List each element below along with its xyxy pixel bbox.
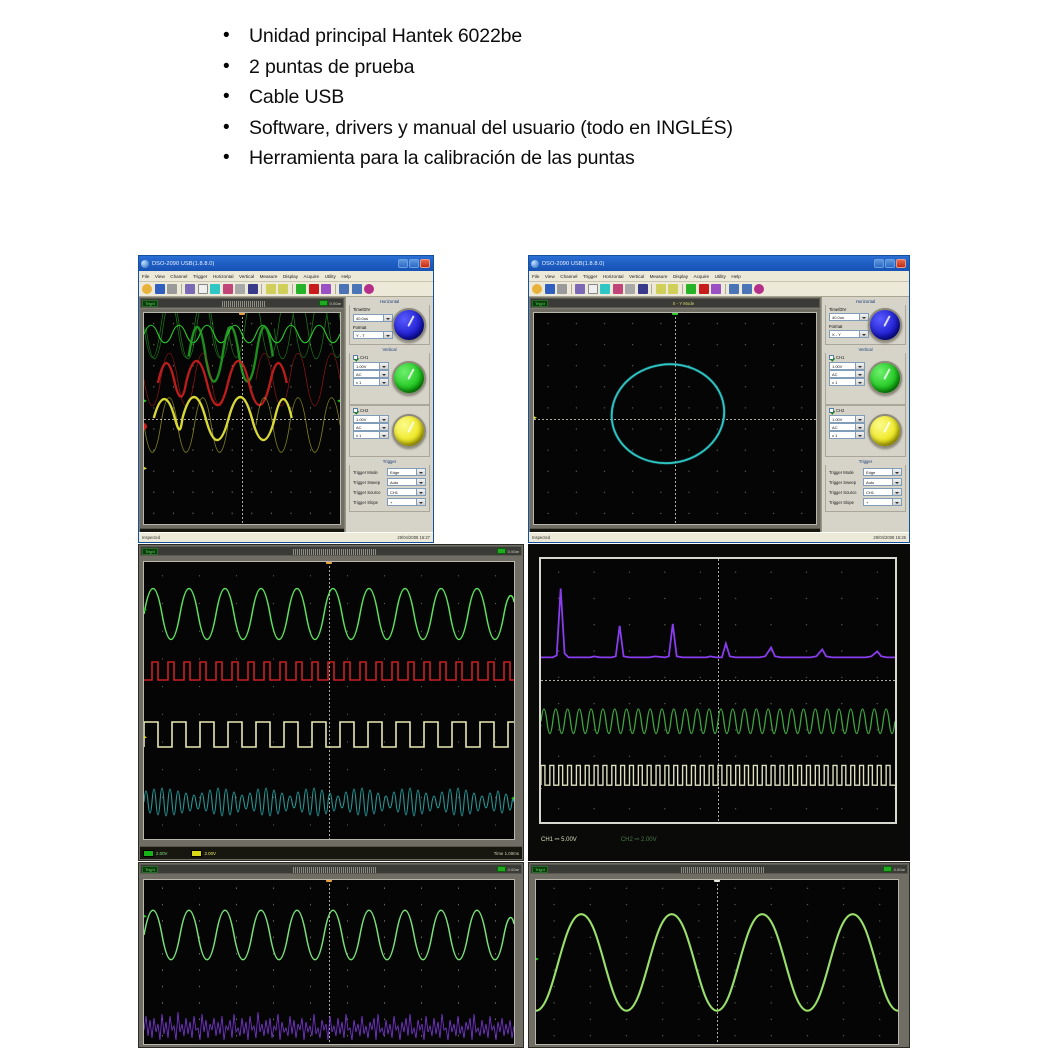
checkbox-icon xyxy=(353,408,358,413)
overview-strip[interactable]: Trig'd 0.00ar xyxy=(140,298,344,308)
trigger-group: Trigger Trigger Mode Edge Trigger Sweep xyxy=(349,459,430,512)
time-div-value: 40.0us xyxy=(356,316,368,321)
ch1-enable-checkbox[interactable]: CH1 xyxy=(353,355,426,360)
scope-panel-6[interactable]: Trig'd 0.00ar xyxy=(528,862,910,1048)
ch1-volts-div-value: 1.00V xyxy=(356,364,366,369)
trigger-position-marker[interactable] xyxy=(239,312,245,315)
window-tile-icon[interactable] xyxy=(339,284,349,294)
menu-channel[interactable]: Channel xyxy=(170,274,187,279)
toolbar-separator xyxy=(651,284,652,294)
waveform-traces xyxy=(144,880,514,1045)
chevron-down-icon xyxy=(895,492,899,494)
menu-measure[interactable]: Measure xyxy=(260,274,278,279)
window-title: DSO-2090 USB(1.8.8.0) xyxy=(542,261,871,267)
bullet-glyph: • xyxy=(215,146,249,170)
vertical-group-title: Vertical xyxy=(825,347,906,352)
maximize-button[interactable] xyxy=(409,259,419,268)
ch1-coupling-select[interactable]: AC xyxy=(829,370,865,378)
trigger-status-badge: Trig'd xyxy=(142,866,158,873)
chevron-down-icon xyxy=(858,427,862,429)
run-indicator xyxy=(497,866,506,872)
ch1-volts-value: 2.00V xyxy=(156,851,167,856)
trigger-slope-label: Trigger Slope xyxy=(829,500,863,505)
menu-horizontal[interactable]: Horizontal xyxy=(603,274,624,279)
stop-icon[interactable] xyxy=(309,284,319,294)
trigger-mode-field[interactable]: Trigger Mode Edge xyxy=(353,468,426,476)
trigger-mode-field[interactable]: Trigger Mode Edge xyxy=(829,468,902,476)
chevron-down-icon xyxy=(858,374,862,376)
chevron-down-icon xyxy=(382,366,386,368)
trigger-mode-label: Trigger Mode xyxy=(353,470,387,475)
marker2-icon[interactable] xyxy=(668,284,678,294)
chevron-down-icon xyxy=(382,419,386,421)
trigger-source-value: CH1 xyxy=(390,490,398,495)
time-div-select[interactable]: 40.0us xyxy=(353,314,393,322)
stop-icon[interactable] xyxy=(699,284,709,294)
vertical-group-title: Vertical xyxy=(349,347,430,352)
ch2-label: CH2 xyxy=(360,408,368,413)
ch1-position-knob[interactable] xyxy=(868,361,902,395)
scope-panel-3[interactable]: Trig'd 0.00ar xyxy=(138,544,524,861)
toolbar[interactable] xyxy=(529,282,909,297)
print-icon[interactable] xyxy=(167,284,177,294)
product-contents-list: • Unidad principal Hantek 6022be • 2 pun… xyxy=(215,24,935,177)
run-icon[interactable] xyxy=(296,284,306,294)
minimize-button[interactable] xyxy=(398,259,408,268)
chevron-down-icon xyxy=(862,334,866,336)
waveform-graticule[interactable] xyxy=(143,312,341,525)
list-item-label: Software, drivers y manual del usuario (… xyxy=(249,116,733,140)
toolbar-separator xyxy=(571,284,572,294)
time-div-value: 40.0us xyxy=(832,315,844,320)
menu-view[interactable]: View xyxy=(545,274,555,279)
control-panel[interactable]: Horizontal Time/DIV 40.0us Format X - Y xyxy=(821,297,909,542)
vertical-group: Vertical CH1 1.00V AC xyxy=(349,347,430,457)
toolbar-separator xyxy=(335,284,336,294)
maximize-button[interactable] xyxy=(885,259,895,268)
menu-display[interactable]: Display xyxy=(283,274,298,279)
list-item-label: Herramienta para la calibración de las p… xyxy=(249,146,635,170)
ch1-volts-div-value: 1.00V xyxy=(832,364,842,369)
trigger-position-marker[interactable] xyxy=(326,561,332,564)
window-controls[interactable] xyxy=(874,259,906,268)
overview-strip[interactable]: Trig'd 0.00ar xyxy=(140,864,522,874)
autoset-icon[interactable] xyxy=(321,284,331,294)
list-item: • Cable USB xyxy=(215,85,935,109)
scope-body: Trig'd 0.00ar xyxy=(139,297,433,542)
overview-waveform xyxy=(293,549,377,555)
trigger-status-badge: Trig'd xyxy=(142,300,158,307)
chevron-down-icon xyxy=(419,502,423,504)
marker1-icon[interactable] xyxy=(266,284,276,294)
vertical-group: Vertical CH1 1.00V AC xyxy=(825,347,906,457)
trigger-slope-select[interactable]: + xyxy=(863,498,902,506)
save-icon[interactable] xyxy=(155,284,165,294)
ch1-probe-select[interactable]: x 1 xyxy=(353,378,389,386)
bullet-glyph: • xyxy=(215,55,249,79)
time-div-field[interactable]: Time/DIV xyxy=(353,307,397,312)
list-item: • Software, drivers y manual del usuario… xyxy=(215,116,935,140)
timebase-readout: Time 1.00ms xyxy=(494,851,519,856)
trigger-position-marker[interactable] xyxy=(326,879,332,882)
trigger-sweep-field[interactable]: Trigger Sweep Auto xyxy=(353,478,426,486)
window-statusbar: Inspected 29/04/2008 15:27 xyxy=(139,532,433,542)
waveform-graticule[interactable] xyxy=(143,561,515,840)
menu-view[interactable]: View xyxy=(155,274,165,279)
chevron-down-icon xyxy=(895,482,899,484)
ch2-position-marker[interactable] xyxy=(143,465,147,472)
measure-icon[interactable] xyxy=(613,284,623,294)
ch1-readout-text: CH1 ⎓ 5.00V xyxy=(541,837,577,844)
chevron-down-icon xyxy=(386,318,390,320)
list-item: • Unidad principal Hantek 6022be xyxy=(215,24,935,48)
ch1-volts-div-select[interactable]: 1.00V xyxy=(829,362,865,370)
menu-trigger[interactable]: Trigger xyxy=(583,274,597,279)
time-div-select[interactable]: 40.0us xyxy=(829,313,869,321)
trigger-source-label: Trigger Source xyxy=(829,490,863,495)
chevron-down-icon xyxy=(858,419,862,421)
open-icon[interactable] xyxy=(532,284,542,294)
trigger-source-value: CH1 xyxy=(866,490,874,495)
print-icon[interactable] xyxy=(557,284,567,294)
checkbox-icon xyxy=(829,408,834,413)
chevron-down-icon xyxy=(895,502,899,504)
zoom-icon[interactable] xyxy=(235,284,245,294)
menu-measure[interactable]: Measure xyxy=(650,274,668,279)
toolbar-separator xyxy=(261,284,262,294)
menu-acquire[interactable]: Acquire xyxy=(694,274,710,279)
overview-position-label: 0.00ar xyxy=(894,867,905,872)
trigger-group-title: Trigger xyxy=(349,459,430,464)
menu-acquire[interactable]: Acquire xyxy=(304,274,320,279)
waveform-traces xyxy=(144,313,340,453)
run-indicator xyxy=(319,300,328,306)
page-root: • Unidad principal Hantek 6022be • 2 pun… xyxy=(0,0,1048,1048)
run-indicator xyxy=(883,866,892,872)
xy-graticule[interactable] xyxy=(533,312,817,525)
menu-utility[interactable]: Utility xyxy=(715,274,726,279)
capture-icon[interactable] xyxy=(248,284,258,294)
overview-waveform xyxy=(681,867,764,873)
menu-vertical[interactable]: Vertical xyxy=(629,274,644,279)
bullet-glyph: • xyxy=(215,85,249,109)
format-value: Y - T xyxy=(356,333,365,338)
trigger-slope-field[interactable]: Trigger Slope + xyxy=(829,498,902,506)
ch1-probe-value: x 1 xyxy=(356,380,361,385)
capture-icon[interactable] xyxy=(638,284,648,294)
ch2-readout-text: CH2 ⎓ 2.00V xyxy=(621,837,657,844)
statusbar-datetime: 29/04/2008 15:26 xyxy=(873,535,906,540)
menu-trigger[interactable]: Trigger xyxy=(193,274,207,279)
scope-panel-5[interactable]: Trig'd 0.00ar xyxy=(138,862,524,1048)
xy-mode-label: X - Y Mode xyxy=(548,301,819,306)
ch1-coupling-value: AC xyxy=(356,372,362,377)
ch2-volts-div-select[interactable]: 1.00V xyxy=(829,415,865,423)
overview-waveform xyxy=(293,867,377,873)
trigger-slope-select[interactable]: + xyxy=(387,498,426,506)
waveform-traces xyxy=(144,562,514,840)
trigger-source-field[interactable]: Trigger Source CH1 xyxy=(829,488,902,496)
fft-graticule[interactable] xyxy=(539,557,897,824)
color-icon[interactable] xyxy=(364,284,374,294)
scope-body: Trig'd X - Y Mode xyxy=(529,297,909,542)
trigger-source-select[interactable]: CH1 xyxy=(387,488,426,496)
overview-position-label: 0.00ar xyxy=(508,867,519,872)
window-statusbar: Inspected 29/04/2008 15:26 xyxy=(529,532,909,542)
scope-status-readout: 2.00V 2.00V Time 1.00ms xyxy=(140,846,522,859)
trigger-sweep-field[interactable]: Trigger Sweep Auto xyxy=(829,478,902,486)
ch2-enable-checkbox[interactable]: CH2 xyxy=(829,408,902,413)
minimize-button[interactable] xyxy=(874,259,884,268)
ch1-position-knob[interactable] xyxy=(392,361,426,395)
overview-position-label: 0.00ar xyxy=(330,301,341,306)
ch2-volts-div-value: 1.00V xyxy=(832,417,842,422)
run-indicator xyxy=(497,548,506,554)
overview-waveform xyxy=(222,301,266,307)
menu-utility[interactable]: Utility xyxy=(325,274,336,279)
format-select[interactable]: Y - T xyxy=(353,331,393,339)
marker1-icon[interactable] xyxy=(656,284,666,294)
format-value: X - Y xyxy=(832,332,841,337)
app-logo-icon xyxy=(141,260,149,268)
bullet-glyph: • xyxy=(215,116,249,140)
ch2-probe-value: x 1 xyxy=(832,433,837,438)
toolbar-separator xyxy=(682,284,683,294)
statusbar-left-text: Inspected xyxy=(142,535,160,540)
chevron-down-icon xyxy=(382,382,386,384)
trigger-sweep-select[interactable]: Auto xyxy=(863,478,902,486)
toolbar-separator xyxy=(292,284,293,294)
horizontal-position-knob[interactable] xyxy=(392,308,426,342)
ch1-enable-checkbox[interactable]: CH1 xyxy=(829,355,902,360)
trigger-slope-value: + xyxy=(390,500,392,505)
ch2-probe-select[interactable]: x 1 xyxy=(829,431,865,439)
channel-readouts: CH1 ⎓ 5.00V CH2 ⎓ 2.00V xyxy=(541,837,657,844)
titlebar[interactable]: DSO-2090 USB(1.8.8.0) xyxy=(139,256,433,271)
open-icon[interactable] xyxy=(142,284,152,294)
ch2-position-knob[interactable] xyxy=(868,414,902,448)
refresh-icon[interactable] xyxy=(210,284,220,294)
menu-file[interactable]: File xyxy=(532,274,539,279)
ch1-color-swatch xyxy=(143,850,154,857)
cursor-icon[interactable] xyxy=(575,284,585,294)
overview-strip[interactable]: Trig'd 0.00ar xyxy=(140,546,522,556)
horizontal-group: Horizontal Time/DIV 40.0us Format X - Y xyxy=(825,299,906,345)
ch2-probe-select[interactable]: x 1 xyxy=(353,431,389,439)
ch1-coupling-value: AC xyxy=(832,372,838,377)
trigger-sweep-select[interactable]: Auto xyxy=(387,478,426,486)
autoset-icon[interactable] xyxy=(711,284,721,294)
overview-strip[interactable]: Trig'd 0.00ar xyxy=(530,864,908,874)
ch2-coupling-select[interactable]: AC xyxy=(353,423,389,431)
format-select[interactable]: X - Y xyxy=(829,330,869,338)
toolbar-separator xyxy=(181,284,182,294)
chevron-down-icon xyxy=(858,435,862,437)
overview-strip[interactable]: Trig'd X - Y Mode xyxy=(530,298,820,308)
chevron-down-icon xyxy=(382,427,386,429)
trigger-mode-value: Edge xyxy=(866,470,875,475)
waveform-traces xyxy=(536,880,898,1045)
trigger-slope-value: + xyxy=(866,500,868,505)
checkbox-icon xyxy=(353,355,358,360)
chevron-down-icon xyxy=(862,317,866,319)
list-item: • Herramienta para la calibración de las… xyxy=(215,146,935,170)
menu-horizontal[interactable]: Horizontal xyxy=(213,274,234,279)
overview-right: 0.00ar xyxy=(883,866,905,872)
timebase-value: 1.00ms xyxy=(505,851,519,856)
pointer-icon[interactable] xyxy=(198,284,208,294)
ch2-volts-value: 2.00V xyxy=(204,851,215,856)
window-title: DSO-2090 USB(1.8.8.0) xyxy=(152,261,395,267)
statusbar-datetime: 29/04/2008 15:27 xyxy=(397,535,430,540)
list-item-label: Cable USB xyxy=(249,85,344,109)
trigger-position-marker[interactable] xyxy=(714,879,720,882)
chevron-down-icon xyxy=(419,482,423,484)
waveform-graticule[interactable] xyxy=(535,879,899,1045)
ch2-coupling-value: AC xyxy=(356,425,362,430)
window-controls[interactable] xyxy=(398,259,430,268)
ch1-label: CH1 xyxy=(836,355,844,360)
chevron-down-icon xyxy=(419,492,423,494)
scope-display-area: Trig'd 0.00ar xyxy=(139,297,345,542)
horizontal-position-knob[interactable] xyxy=(868,308,902,342)
trigger-sweep-label: Trigger Sweep xyxy=(353,480,387,485)
ch2-coupling-select[interactable]: AC xyxy=(829,423,865,431)
timebase-label: Time xyxy=(494,851,504,856)
trigger-slope-label: Trigger Slope xyxy=(353,500,387,505)
overview-right: 0.00ar xyxy=(497,548,519,554)
trigger-status-badge: Trig'd xyxy=(532,866,548,873)
window-tile-icon[interactable] xyxy=(729,284,739,294)
list-item-label: Unidad principal Hantek 6022be xyxy=(249,24,522,48)
oscilloscope-screenshot-collage: DSO-2090 USB(1.8.8.0) File View Channel … xyxy=(138,255,910,1048)
cursor-icon[interactable] xyxy=(185,284,195,294)
trigger-sweep-value: Auto xyxy=(390,480,398,485)
zoom-icon[interactable] xyxy=(625,284,635,294)
menubar[interactable]: File View Channel Trigger Horizontal Ver… xyxy=(139,271,433,282)
ch1-volts-div-select[interactable]: 1.00V xyxy=(353,362,389,370)
checkbox-icon xyxy=(829,355,834,360)
trigger-position-marker[interactable] xyxy=(672,312,678,315)
refresh-icon[interactable] xyxy=(600,284,610,294)
bullet-glyph: • xyxy=(215,24,249,48)
close-button[interactable] xyxy=(896,259,906,268)
trigger-mode-select[interactable]: Edge xyxy=(387,468,426,476)
window-cascade-icon[interactable] xyxy=(352,284,362,294)
trigger-group-title: Trigger xyxy=(825,459,906,464)
toolbar[interactable] xyxy=(139,282,433,297)
ch1-label: CH1 xyxy=(360,355,368,360)
scope-display-area: Trig'd X - Y Mode xyxy=(529,297,821,542)
control-panel[interactable]: Horizontal Time/DIV 40.0us Format xyxy=(345,297,433,542)
chevron-down-icon xyxy=(382,374,386,376)
menu-channel[interactable]: Channel xyxy=(560,274,577,279)
ch2-enable-checkbox[interactable]: CH2 xyxy=(353,408,426,413)
titlebar[interactable]: DSO-2090 USB(1.8.8.0) xyxy=(529,256,909,271)
close-button[interactable] xyxy=(420,259,430,268)
menubar[interactable]: File View Channel Trigger Horizontal Ver… xyxy=(529,271,909,282)
list-item-label: 2 puntas de prueba xyxy=(249,55,414,79)
list-item: • 2 puntas de prueba xyxy=(215,55,935,79)
scope-window-2[interactable]: DSO-2090 USB(1.8.8.0) File View Channel … xyxy=(528,255,910,543)
chevron-down-icon xyxy=(419,472,423,474)
trigger-slope-field[interactable]: Trigger Slope + xyxy=(353,498,426,506)
color-icon[interactable] xyxy=(754,284,764,294)
horizontal-group: Horizontal Time/DIV 40.0us Format xyxy=(349,299,430,345)
trigger-source-label: Trigger Source xyxy=(353,490,387,495)
horizontal-group-title: Horizontal xyxy=(349,299,430,304)
fft-and-waveform-traces xyxy=(541,559,895,815)
ch1-readout: 2.00V xyxy=(143,850,167,857)
ch2-position-knob[interactable] xyxy=(392,414,426,448)
scope-window-1[interactable]: DSO-2090 USB(1.8.8.0) File View Channel … xyxy=(138,255,434,543)
chevron-down-icon xyxy=(858,366,862,368)
ch1-coupling-select[interactable]: AC xyxy=(353,370,389,378)
overview-position-label: 0.00ar xyxy=(508,549,519,554)
statusbar-left-text: Inspected xyxy=(532,535,550,540)
ch2-coupling-value: AC xyxy=(832,425,838,430)
ch2-probe-value: x 1 xyxy=(356,433,361,438)
chevron-down-icon xyxy=(895,472,899,474)
save-icon[interactable] xyxy=(545,284,555,294)
trigger-mode-select[interactable]: Edge xyxy=(863,468,902,476)
pointer-icon[interactable] xyxy=(588,284,598,294)
menu-file[interactable]: File xyxy=(142,274,149,279)
trigger-sweep-value: Auto xyxy=(866,480,874,485)
trigger-source-select[interactable]: CH1 xyxy=(863,488,902,496)
chevron-down-icon xyxy=(858,382,862,384)
trigger-status-badge: Trig'd xyxy=(142,548,158,555)
window-cascade-icon[interactable] xyxy=(742,284,752,294)
trigger-status-badge: Trig'd xyxy=(532,300,548,307)
graticule-frame xyxy=(530,309,820,528)
horizontal-group-title: Horizontal xyxy=(825,299,906,304)
overview-right: 0.00ar xyxy=(319,300,341,306)
menu-help[interactable]: Help xyxy=(341,274,350,279)
time-div-label: Time/DIV xyxy=(353,307,370,312)
ch2-readout: 2.00V xyxy=(191,850,215,857)
ch2-label: CH2 xyxy=(836,408,844,413)
ch2-volts-div-value: 1.00V xyxy=(356,417,366,422)
ch1-probe-select[interactable]: x 1 xyxy=(829,378,865,386)
chevron-down-icon xyxy=(382,435,386,437)
trigger-mode-label: Trigger Mode xyxy=(829,470,863,475)
overview-right: 0.00ar xyxy=(497,866,519,872)
run-icon[interactable] xyxy=(686,284,696,294)
menu-vertical[interactable]: Vertical xyxy=(239,274,254,279)
menu-display[interactable]: Display xyxy=(673,274,688,279)
app-logo-icon xyxy=(531,260,539,268)
menu-help[interactable]: Help xyxy=(731,274,740,279)
chevron-down-icon xyxy=(386,335,390,337)
trigger-mode-value: Edge xyxy=(390,470,399,475)
trigger-group: Trigger Trigger Mode Edge Trigger Sweep xyxy=(825,459,906,512)
trigger-source-field[interactable]: Trigger Source CH1 xyxy=(353,488,426,496)
lissajous-trace xyxy=(534,313,816,514)
scope-panel-4[interactable]: CH1 ⎓ 5.00V CH2 ⎓ 2.00V xyxy=(528,544,910,861)
waveform-graticule[interactable] xyxy=(143,879,515,1045)
marker2-icon[interactable] xyxy=(278,284,288,294)
ch2-volts-div-select[interactable]: 1.00V xyxy=(353,415,389,423)
trigger-sweep-label: Trigger Sweep xyxy=(829,480,863,485)
ch2-color-swatch xyxy=(191,850,202,857)
measure-icon[interactable] xyxy=(223,284,233,294)
graticule-frame xyxy=(140,309,344,528)
toolbar-separator xyxy=(725,284,726,294)
ch1-probe-value: x 1 xyxy=(832,380,837,385)
